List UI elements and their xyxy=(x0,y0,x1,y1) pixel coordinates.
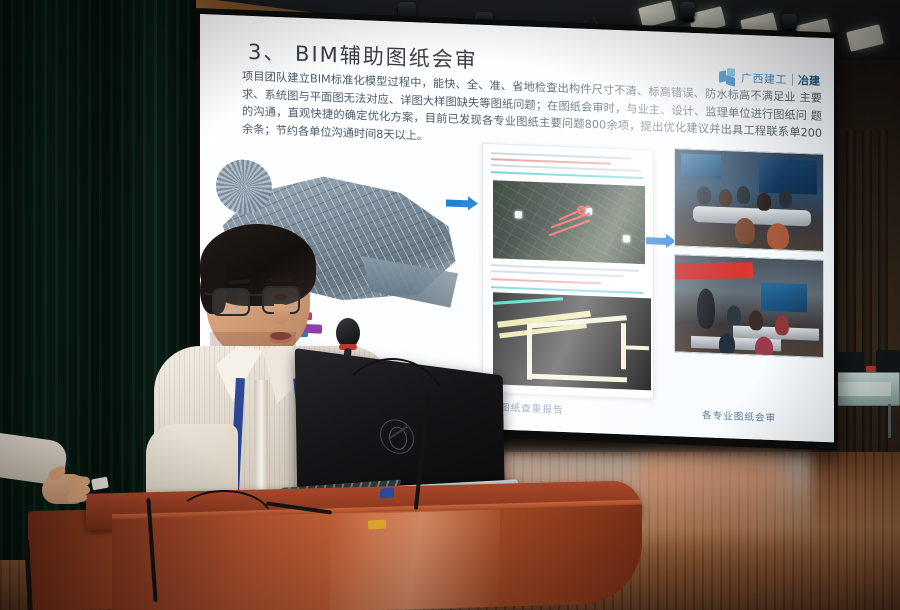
monitor xyxy=(876,350,900,372)
attendee xyxy=(775,315,789,336)
map-marker-highlight xyxy=(577,205,586,214)
monitor xyxy=(838,352,864,372)
stage-spotlight xyxy=(680,2,695,20)
vga-cable-yellow-plug xyxy=(368,520,386,530)
map-marker xyxy=(515,211,522,218)
attendee xyxy=(737,186,750,204)
finger xyxy=(67,493,87,503)
eye-right xyxy=(274,294,287,300)
wall-panel xyxy=(862,130,872,460)
logo-divider xyxy=(792,73,793,85)
attendee-foreground xyxy=(767,223,789,250)
attendee xyxy=(757,192,771,211)
cad-line xyxy=(527,324,532,380)
nose xyxy=(274,304,290,324)
attendee-foreground xyxy=(755,336,773,358)
cad-line xyxy=(625,345,649,350)
body-line-4: 余条；节约各单位沟通时间8天以上。 xyxy=(242,122,428,142)
projection-screen-in-photo xyxy=(761,283,807,313)
attendee xyxy=(719,189,732,206)
wall-panel xyxy=(846,130,856,460)
drawing-review-document xyxy=(482,143,654,400)
attendee-foreground xyxy=(735,218,755,245)
table-leg xyxy=(888,404,891,438)
eyebrow xyxy=(270,278,292,283)
cad-line xyxy=(493,297,563,305)
lens-left xyxy=(212,288,250,316)
caption-right: 各专业图纸会审 xyxy=(702,407,776,424)
wall-panel xyxy=(878,130,888,460)
logo-text-secondary: 冶建 xyxy=(798,71,820,88)
flow-arrow xyxy=(446,199,470,207)
cad-drawing-screenshot xyxy=(493,292,651,390)
attendee-foreground xyxy=(719,333,735,356)
wall-display xyxy=(681,153,721,179)
map-marker xyxy=(623,235,630,242)
attendee xyxy=(727,305,741,326)
hand xyxy=(36,468,92,510)
caption-left: 图纸查重报告 xyxy=(500,400,564,416)
table-front-panel xyxy=(833,382,891,396)
site-map-screenshot xyxy=(493,180,645,264)
guangxi-construction-logo-icon xyxy=(719,68,736,86)
attendee xyxy=(697,288,715,329)
doc-text-line xyxy=(491,278,601,284)
meeting-photo-bottom xyxy=(674,254,824,358)
flow-arrow xyxy=(646,237,668,245)
floor-reflection xyxy=(640,452,780,562)
doc-text-line xyxy=(491,158,611,165)
attendee xyxy=(779,189,792,207)
map-annotation-line xyxy=(551,212,591,228)
network-cable-blue-plug xyxy=(380,487,394,498)
meeting-photo-top xyxy=(674,148,824,252)
bim-model-ring-structure xyxy=(216,159,272,215)
map-annotation-line xyxy=(559,205,590,221)
cad-line xyxy=(529,374,627,383)
skylight-panel xyxy=(638,0,676,28)
logo-text: 广西建工 xyxy=(741,69,787,87)
dell-logo-icon xyxy=(380,417,415,456)
attendee xyxy=(697,186,711,205)
skylight-panel xyxy=(846,24,884,52)
map-annotation-line xyxy=(549,220,591,237)
stage-spotlight xyxy=(782,14,797,32)
glasses-bridge xyxy=(250,294,262,296)
red-banner xyxy=(675,262,754,279)
doc-text-line xyxy=(491,164,641,172)
eye-left xyxy=(226,296,239,302)
red-equipment-item xyxy=(866,366,876,372)
map-marker xyxy=(585,208,592,215)
podium-highlight xyxy=(330,510,500,610)
projection-screen-in-photo xyxy=(759,158,817,194)
attendee xyxy=(749,310,763,331)
doc-text-line xyxy=(491,270,623,277)
company-logo: 广西建工 冶建 xyxy=(719,68,820,89)
doc-divider xyxy=(491,171,643,179)
photo-scene: 3、 BIM辅助图纸会审 项目团队建立BIM标准化模型过程中，能快、全、准、省地… xyxy=(0,0,900,610)
